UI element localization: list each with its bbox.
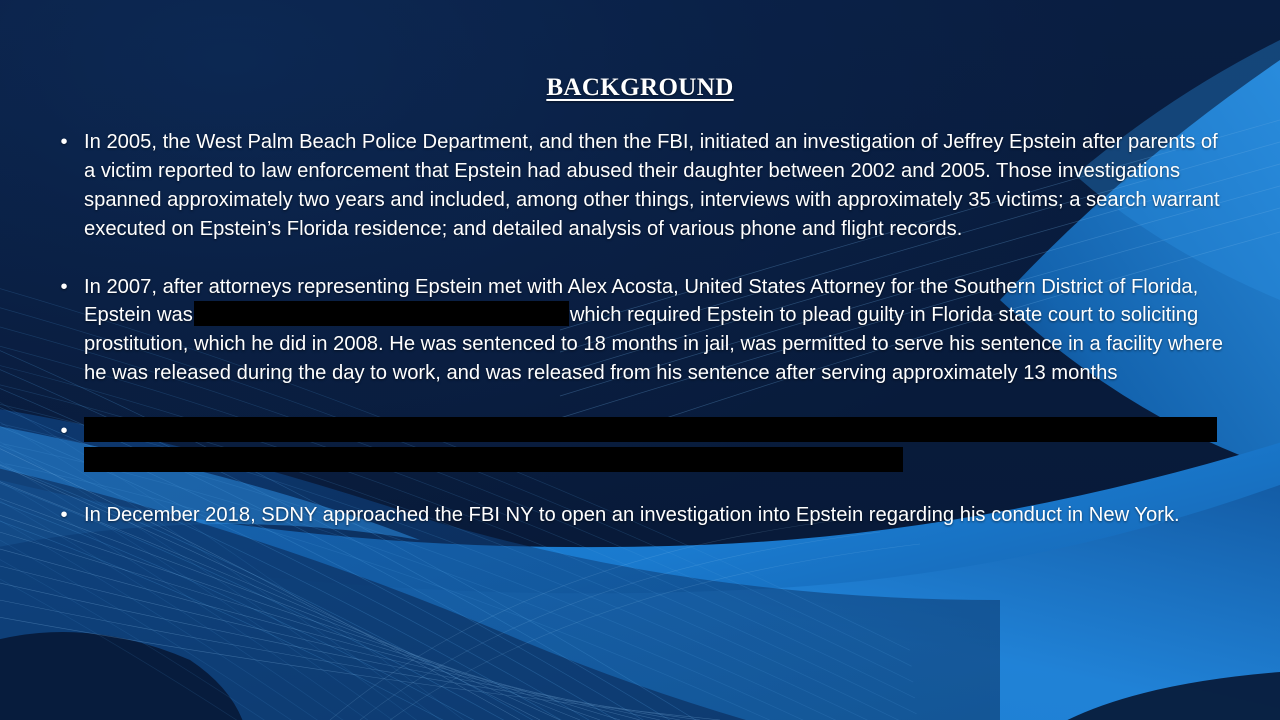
slide-title: BACKGROUND [0,74,1280,102]
bullet-glyph: • [57,501,71,530]
bullet-item-2005-investigation: • In 2005, the West Palm Beach Police De… [48,128,1232,244]
bullet-item-2007-plea-agreement: • In 2007, after attorneys representing … [48,273,1232,389]
bullet-glyph: • [57,128,71,157]
bullet-text-2005-investigation: In 2005, the West Palm Beach Police Depa… [84,128,1232,244]
bullet-glyph: • [57,417,71,446]
presentation-slide: BACKGROUND • In 2005, the West Palm Beac… [0,0,1280,720]
bullet-item-fully-redacted: • [48,417,1232,472]
bullet-glyph: • [57,273,71,302]
slide-body: • In 2005, the West Palm Beach Police De… [48,128,1232,530]
bullet-item-2018-sdny: • In December 2018, SDNY approached the … [48,501,1232,530]
redaction-bar-line-2 [84,447,903,472]
redaction-bar-line-1 [84,417,1217,442]
redaction-inline-bar [194,301,569,326]
bullet-text-2007-plea-agreement: In 2007, after attorneys representing Ep… [84,273,1232,389]
bullet-text-2018-sdny: In December 2018, SDNY approached the FB… [84,501,1232,530]
